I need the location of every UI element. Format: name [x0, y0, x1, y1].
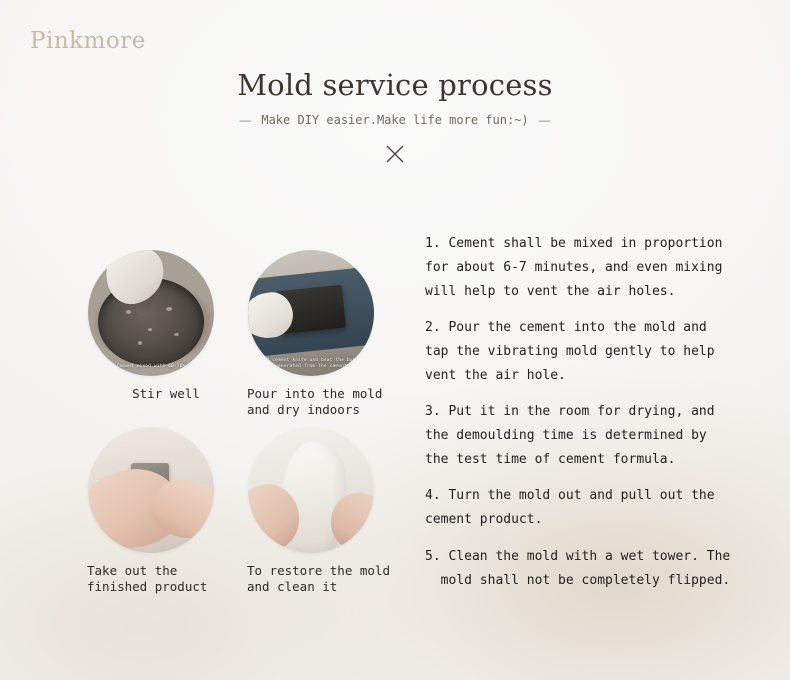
cement-mixing-bowl-photo: Cement mixed with 60-70% [88, 250, 214, 376]
step-restore-mold: To restore the mold and clean it [245, 427, 405, 594]
steps-column: Cement mixed with 60-70% Stir well Use a… [85, 250, 405, 605]
peeling-silicone-mold-photo [248, 427, 374, 553]
page-root: Pinkmore Mold service process —Make DIY … [0, 0, 790, 680]
page-title: Mold service process [0, 68, 790, 102]
subtitle-text: Make DIY easier.Make life more fun:~) [261, 113, 528, 127]
step-take-out-product: Take out the finished product [85, 427, 245, 594]
step-caption: Pour into the mold and dry indoors [247, 386, 405, 417]
subtitle-dash-right: — [539, 113, 551, 127]
instruction-step-5: 5. Clean the mold with a wet tower. The … [425, 545, 773, 593]
instruction-step-4: 4. Turn the mold out and pull out the ce… [425, 484, 773, 532]
step-pour-into-mold: Use a cement knife and beat the bubbles … [245, 250, 405, 417]
step-caption: Take out the finished product [87, 563, 245, 594]
step-caption: To restore the mold and clean it [247, 563, 405, 594]
cement-block-on-board-photo: Use a cement knife and beat the bubbles … [248, 250, 374, 376]
instruction-step-1: 1. Cement shall be mixed in proportion f… [425, 232, 773, 304]
instruction-step-3: 3. Put it in the room for drying, and th… [425, 400, 773, 472]
photo-note: Cement mixed with 60-70% [88, 364, 214, 370]
step-caption: Stir well [87, 386, 245, 402]
x-mark-icon [384, 143, 406, 165]
photo-note: Use a cement knife and beat the bubbles … [248, 358, 374, 370]
page-subtitle: —Make DIY easier.Make life more fun:~)— [0, 113, 790, 127]
steps-grid: Cement mixed with 60-70% Stir well Use a… [85, 250, 405, 605]
brand-logo: Pinkmore [30, 28, 146, 54]
hand-holding-finished-product-photo [88, 427, 214, 553]
instructions-column: 1. Cement shall be mixed in proportion f… [425, 232, 773, 593]
instruction-step-2: 2. Pour the cement into the mold and tap… [425, 316, 773, 388]
step-stir-well: Cement mixed with 60-70% Stir well [85, 250, 245, 417]
subtitle-dash-left: — [239, 113, 251, 127]
